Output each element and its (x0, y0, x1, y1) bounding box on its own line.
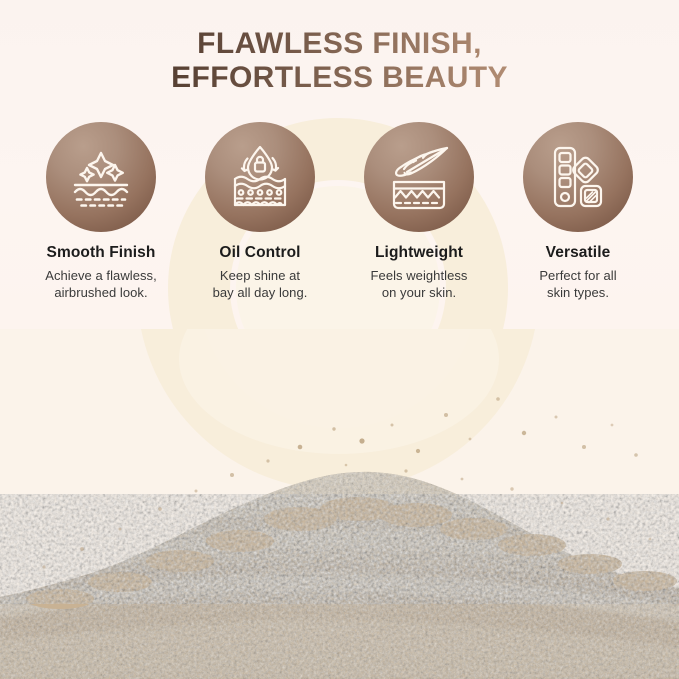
feature-list: Smooth Finish Achieve a flawless, airbru… (0, 122, 679, 301)
page-title-line-2: EFFORTLESS BEAUTY (0, 61, 679, 95)
feature-item-lightweight: Lightweight Feels weightless on your ski… (344, 122, 494, 301)
feature-description: Achieve a flawless, airbrushed look. (45, 267, 157, 301)
page-title: FLAWLESS FINISH, EFFORTLESS BEAUTY (0, 27, 679, 94)
feature-icon-badge (205, 122, 315, 232)
feature-description-line-1: Achieve a flawless, (45, 268, 157, 283)
feature-description-line-1: Keep shine at (220, 268, 300, 283)
feature-description-line-2: bay all day long. (213, 285, 308, 300)
feather-skin-icon (383, 141, 455, 213)
loose-powder-photo (0, 329, 679, 679)
powder-mound-graphic (0, 329, 679, 679)
feature-description-line-2: skin types. (547, 285, 609, 300)
feature-description: Keep shine at bay all day long. (213, 267, 308, 301)
feature-item-smooth-finish: Smooth Finish Achieve a flawless, airbru… (26, 122, 176, 301)
feature-icon-badge (523, 122, 633, 232)
infographic-poster: FLAWLESS FINISH, EFFORTLESS BEAUTY (0, 0, 679, 679)
feature-description-line-2: airbrushed look. (54, 285, 147, 300)
feature-description: Perfect for all skin types. (539, 267, 616, 301)
shade-palette-icon (542, 141, 614, 213)
smooth-skin-sparkle-icon (65, 141, 137, 213)
feature-description-line-1: Perfect for all (539, 268, 616, 283)
feature-description-line-1: Feels weightless (371, 268, 468, 283)
feature-title: Smooth Finish (47, 244, 156, 263)
feature-description-line-2: on your skin. (382, 285, 456, 300)
feature-item-oil-control: Oil Control Keep shine at bay all day lo… (185, 122, 335, 301)
feature-icon-badge (364, 122, 474, 232)
feature-description: Feels weightless on your skin. (371, 267, 468, 301)
feature-icon-badge (46, 122, 156, 232)
feature-title: Versatile (546, 244, 611, 263)
feature-title: Oil Control (219, 244, 300, 263)
oil-droplet-lock-icon (224, 141, 296, 213)
page-title-line-1: FLAWLESS FINISH, (0, 27, 679, 61)
feature-item-versatile: Versatile Perfect for all skin types. (503, 122, 653, 301)
feature-title: Lightweight (375, 244, 463, 263)
